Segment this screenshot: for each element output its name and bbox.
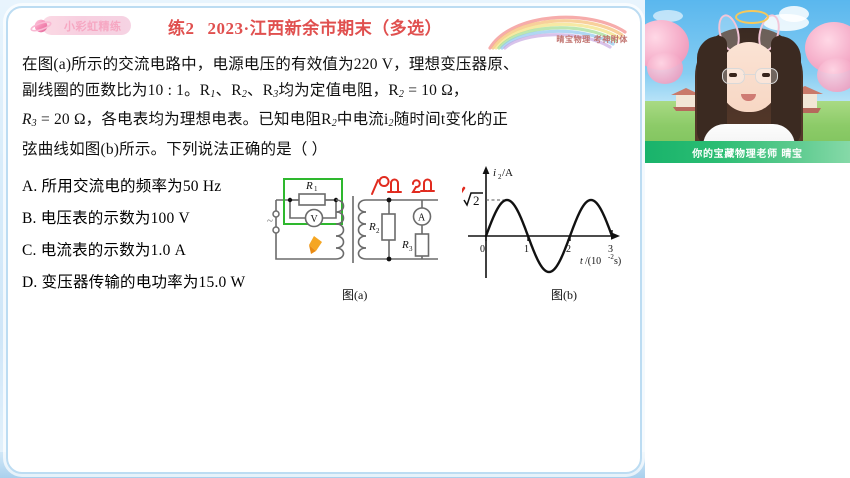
resistor-r3 [416,234,429,256]
figure-a-caption: 图(a) [342,286,367,303]
y-axis-label-main: i [493,167,496,179]
red-stray-mark [462,188,464,194]
y-tick-sqrt2-value: 2 [473,193,480,208]
q2-b: 、R [216,82,242,99]
glasses-bridge [743,74,755,75]
node-dot-r2-bottom [387,257,392,262]
webcam-video-panel[interactable] [645,0,850,163]
lens-left [722,68,745,84]
resistor-r1-sub: 1 [314,185,318,193]
question-line-3: R3 = 20 Ω，各电表均为理想电表。已知电阻R2中电流i2随时间t变化的正 [22,107,628,137]
resistor-r2 [382,214,395,240]
node-dot-left [288,198,292,202]
sine-chart-figure-b: i 2 /A 2 0 1 2 [462,160,642,285]
watermark-text: 晴宝物理 考神附体 [556,34,628,45]
ammeter-label: A [418,213,426,224]
page-title: 练22023·江西新余市期末（多选） [168,14,442,39]
exam-title: 2023·江西新余市期末（多选） [208,19,443,38]
option-c-text: 电流表的示数为1.0 A [41,242,186,259]
transformer-secondary-coil [359,200,367,259]
right-empty-area [645,163,850,478]
exercise-number: 练2 [168,19,195,38]
planet-icon [30,15,52,37]
option-a[interactable]: A. 所用交流电的频率为50 Hz [22,171,245,203]
glasses-icon [722,68,776,82]
presenter-name-banner: 你的宝藏物理老师 晴宝 [645,141,850,163]
cloud-2 [779,6,809,22]
question-card: 小彩虹精练 练22023·江西新余市期末（多选） 晴宝物理 考神附体 [6,6,642,474]
screenshot-root: 小彩虹精练 练22023·江西新余市期末（多选） 晴宝物理 考神附体 [0,0,850,478]
q2-e: = 10 Ω， [404,82,469,99]
x-axis-label-unit2: s) [614,256,621,267]
y-axis-label-unit: /A [502,167,513,179]
logo-text: 小彩虹精练 [64,18,122,34]
q2-c: 、R [247,82,273,99]
resistor-r1-label: R [305,180,313,192]
q3-b: = 20 Ω，各电表均为理想电表。已知电阻R [37,111,332,128]
q2-a: 副线圈的匝数比为10 : 1。R [22,82,210,99]
option-d[interactable]: D. 变压器传输的电功率为15.0 W [22,267,245,299]
question-body: 在图(a)所示的交流电路中，电源电压的有效值为220 V，理想变压器原、 副线圈… [22,52,628,162]
brand-logo: 小彩虹精练 [42,16,131,35]
option-b-text: 电压表的示数为100 V [41,210,190,227]
q3-c: 中电流i [337,111,389,128]
resistor-r2-label: R [368,221,376,233]
presenter-name-text: 你的宝藏物理老师 晴宝 [692,145,802,160]
red-note-10-ohm [372,177,401,194]
y-axis-arrow [483,166,490,174]
option-d-key: D. [22,274,37,291]
question-line-2: 副线圈的匝数比为10 : 1。R1、R2、R3均为定值电阻，R2 = 10 Ω， [22,78,628,108]
q2-d: 均为定值电阻，R [278,82,398,99]
resistor-r3-sub: 3 [409,245,413,253]
option-c[interactable]: C. 电流表的示数为1.0 A [22,235,245,267]
x-axis-label-unit: /(10 [585,256,601,267]
option-b[interactable]: B. 电压表的示数为100 V [22,203,245,235]
ac-source-symbol: ~ [267,215,273,227]
q3-a: R [22,111,32,128]
orange-pointer-icon [309,236,322,254]
voltmeter-label: V [311,214,319,225]
resistor-r3-label: R [401,239,409,251]
resistor-r2-sub: 2 [376,227,380,235]
cherry-blossom-left-2 [647,52,683,84]
halo-icon [735,10,769,24]
node-dot-r2-top [387,198,392,203]
source-terminal-bottom [273,227,279,233]
y-tick-sqrt2: 2 [464,193,483,208]
option-b-key: B. [22,210,37,227]
lens-right [755,68,778,84]
x-tick-label-0: 0 [480,244,485,255]
circuit-diagram-figure-a: R 1 V ~ [266,164,466,289]
option-a-text: 所用交流电的频率为50 Hz [42,178,222,195]
card-header: 小彩虹精练 练22023·江西新余市期末（多选） 晴宝物理 考神附体 [8,8,640,50]
q3-d: 随时间t变化的正 [394,111,508,128]
source-terminal-top [273,211,279,217]
figures-area: R 1 V ~ [266,158,636,303]
question-line-1: 在图(a)所示的交流电路中，电源电压的有效值为220 V，理想变压器原、 [22,52,628,78]
option-a-key: A. [22,178,37,195]
eye-right [762,73,770,77]
option-c-key: C. [22,242,37,259]
options-list: A. 所用交流电的频率为50 Hz B. 电压表的示数为100 V C. 电流表… [22,171,245,299]
resistor-r1 [299,194,325,205]
transformer-primary-coil [336,200,344,259]
red-note-20-ohm [413,180,434,193]
logo-badge: 小彩虹精练 [42,16,131,35]
x-tick-label-1: 1 [524,244,529,255]
eye-left [729,73,737,77]
option-d-text: 变压器传输的电功率为15.0 W [42,274,246,291]
figure-b-caption: 图(b) [551,286,577,303]
x-axis-label-main: t [580,256,583,267]
